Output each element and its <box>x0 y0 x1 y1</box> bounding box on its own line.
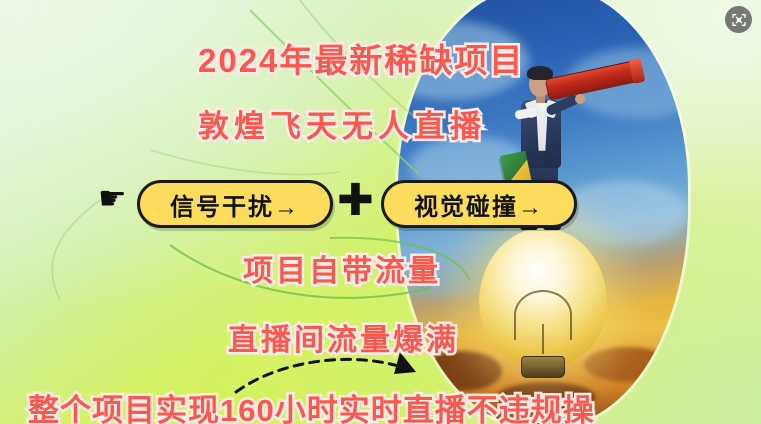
headline-line-3: 项目自带流量 <box>243 246 441 290</box>
poster-canvas: 2024年最新稀缺项目 敦煌飞天无人直播 项目自带流量 直播间流量爆满 整个项目… <box>0 0 761 424</box>
headline-line-1: 2024年最新稀缺项目 <box>198 34 524 82</box>
headline-line-4: 直播间流量爆满 <box>228 315 459 359</box>
lightbulb-base <box>521 356 565 378</box>
plus-icon: ✚ <box>337 184 373 220</box>
badge-visual-collision[interactable]: 视觉碰撞→ <box>381 180 577 228</box>
lightbulb-graphic <box>479 228 607 393</box>
figure-hand <box>575 94 585 104</box>
headline-line-2: 敦煌飞天无人直播 <box>198 101 486 146</box>
lightbulb-stem <box>542 324 544 354</box>
badge-signal-interference[interactable]: 信号干扰→ <box>137 180 333 228</box>
pointing-hand-icon: ☛ <box>98 178 138 218</box>
headline-line-5: 整个项目实现160小时实时直播不违规操 <box>28 385 595 424</box>
scan-translate-icon <box>731 12 747 28</box>
scan-translate-button[interactable] <box>725 6 752 33</box>
